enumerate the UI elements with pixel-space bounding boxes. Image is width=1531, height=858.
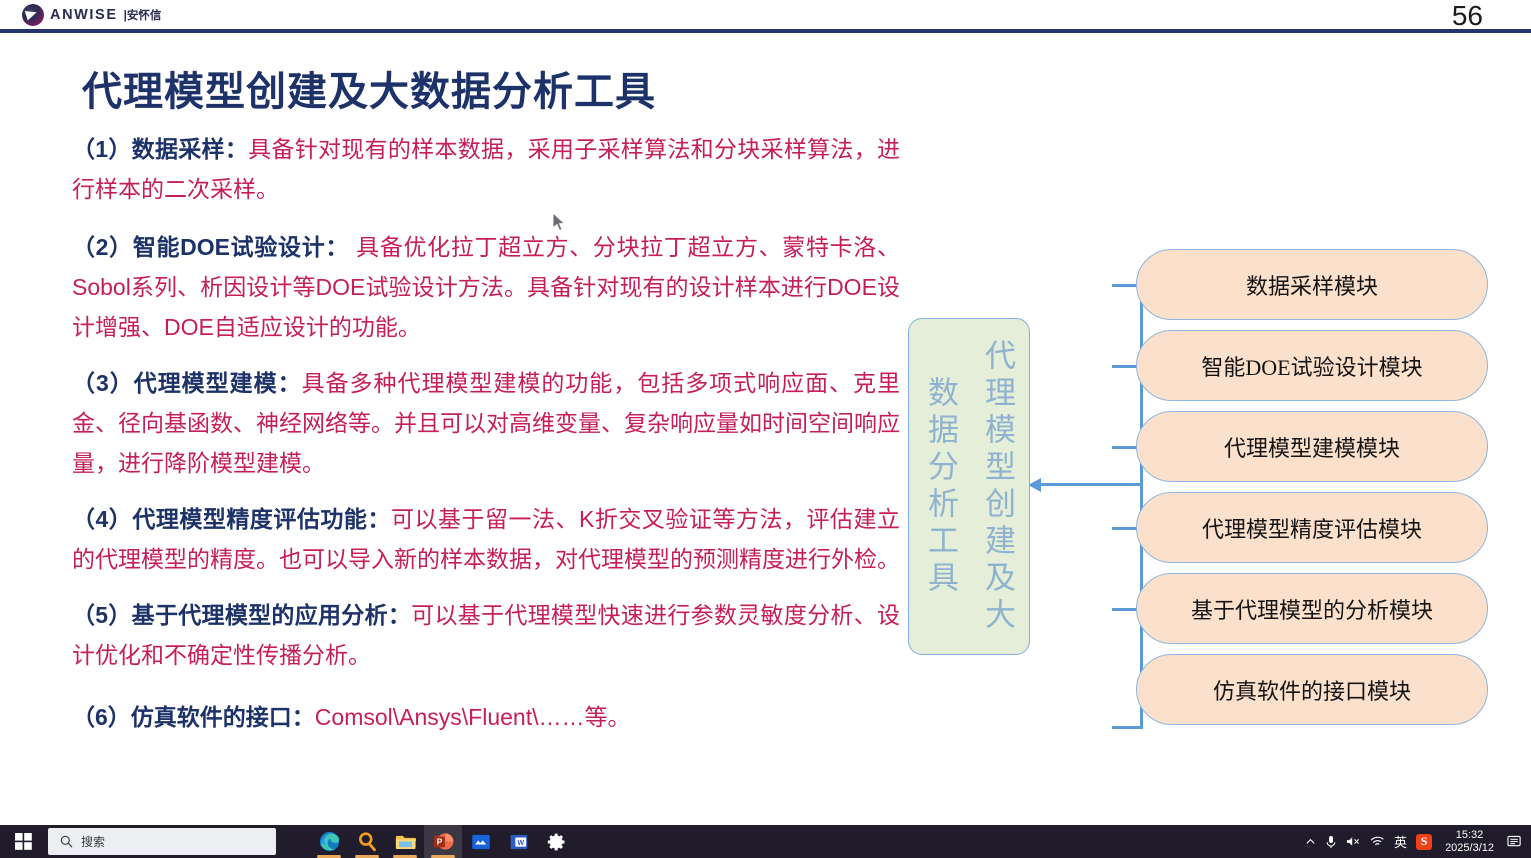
- clock-time: 15:32: [1445, 829, 1494, 842]
- system-tray: 英 S 15:32 2025/3/12: [1305, 825, 1531, 858]
- diagram-leaf-node[interactable]: 代理模型建模模块: [1136, 411, 1488, 482]
- svg-text:P: P: [436, 837, 442, 847]
- bullet-lead: （5）基于代理模型的应用分析：: [72, 602, 411, 628]
- taskbar-app-edge[interactable]: [310, 825, 348, 858]
- diagram-root-label: 代理模型创建及大数据分析工具: [912, 327, 1026, 647]
- taskbar-app-word[interactable]: W: [500, 825, 538, 858]
- bullet-item: （2）智能DOE试验设计： 具备优化拉丁超立方、分块拉丁超立方、蒙特卡洛、Sob…: [72, 227, 900, 347]
- powerpoint-icon: P: [433, 831, 454, 852]
- bullet-item: （4）代理模型精度评估功能：可以基于留一法、K折交叉验证等方法，评估建立的代理模…: [72, 499, 900, 579]
- diagram-leaf-node[interactable]: 基于代理模型的分析模块: [1136, 573, 1488, 644]
- bullet-item: （1）数据采样：具备针对现有的样本数据，采用子采样算法和分块采样算法，进行样本的…: [72, 129, 900, 209]
- taskbar-app-file-explorer[interactable]: [386, 825, 424, 858]
- show-hidden-icons-chevron-icon[interactable]: [1305, 836, 1316, 847]
- ime-language-indicator[interactable]: 英: [1394, 832, 1407, 851]
- bullet-item: （3）代理模型建模：具备多种代理模型建模的功能，包括多项式响应面、克里金、径向基…: [72, 363, 900, 483]
- taskbar-app-search-highlight[interactable]: [348, 825, 386, 858]
- volume-muted-icon[interactable]: [1346, 835, 1361, 848]
- brand-cn-text: 安怀信: [127, 10, 162, 22]
- diagram-leaf-node[interactable]: 数据采样模块: [1136, 249, 1488, 320]
- microphone-icon[interactable]: [1325, 835, 1337, 849]
- diagram-leaf-node[interactable]: 代理模型精度评估模块: [1136, 492, 1488, 563]
- anwise-logo: ANWISE |安怀信: [22, 4, 161, 26]
- bullet-lead: （2）智能DOE试验设计：: [72, 234, 349, 260]
- brand-name-cn: |安怀信: [124, 7, 162, 23]
- edge-icon: [319, 831, 340, 852]
- diagram-arrow-line: [1038, 483, 1142, 486]
- diagram-leaf-node[interactable]: 智能DOE试验设计模块: [1136, 330, 1488, 401]
- diagram-leaf-label: 数据采样模块: [1246, 269, 1378, 301]
- magnifier-icon: [357, 831, 378, 852]
- diagram-root-node[interactable]: 代理模型创建及大数据分析工具: [908, 318, 1030, 655]
- brand-name: ANWISE: [50, 7, 118, 23]
- start-button[interactable]: [0, 825, 46, 858]
- folder-icon: [395, 833, 416, 851]
- windows-logo-icon: [15, 833, 32, 850]
- taskbar-app-settings[interactable]: [538, 825, 576, 858]
- bullet-item: （6）仿真软件的接口：Comsol\Ansys\Fluent\……等。: [72, 697, 900, 737]
- presentation-window: ANWISE |安怀信 56 代理模型创建及大数据分析工具 （1）数据采样：具备…: [0, 0, 1531, 858]
- diagram-leaf-label: 基于代理模型的分析模块: [1191, 593, 1433, 625]
- diagram-leaf-node[interactable]: 仿真软件的接口模块: [1136, 654, 1488, 725]
- page-number: 56: [1452, 0, 1483, 32]
- clock-date: 2025/3/12: [1445, 842, 1494, 855]
- taskbar-search-box[interactable]: 搜索: [48, 828, 276, 855]
- bullet-lead: （1）数据采样：: [72, 136, 248, 162]
- diagram-corner: [1136, 726, 1139, 729]
- bullet-lead: （6）仿真软件的接口：: [72, 704, 315, 730]
- bullet-lead: （3）代理模型建模：: [72, 370, 302, 396]
- slide-title: 代理模型创建及大数据分析工具: [82, 59, 656, 117]
- slide-header: ANWISE |安怀信 56: [0, 0, 1531, 30]
- diagram-leaf-label: 代理模型精度评估模块: [1202, 512, 1422, 544]
- taskbar-app-list: P W: [310, 825, 576, 858]
- diagram-leaf-label: 代理模型建模模块: [1224, 431, 1400, 463]
- svg-text:W: W: [517, 839, 524, 846]
- diagram-leaf-label: 仿真软件的接口模块: [1213, 674, 1411, 706]
- anwise-logo-mark-icon: [22, 4, 44, 26]
- bullet-item: （5）基于代理模型的应用分析：可以基于代理模型快速进行参数灵敏度分析、设计优化和…: [72, 595, 900, 675]
- sogou-ime-icon[interactable]: S: [1416, 834, 1432, 850]
- taskbar-app-blue[interactable]: [462, 825, 500, 858]
- search-placeholder: 搜索: [81, 833, 105, 850]
- notification-center-icon[interactable]: [1507, 835, 1523, 849]
- bullet-body: Comsol\Ansys\Fluent\……等。: [315, 704, 631, 730]
- app-blue-icon: [471, 832, 491, 852]
- bullet-lead: （4）代理模型精度评估功能：: [72, 506, 391, 532]
- word-icon: W: [509, 832, 529, 852]
- bullet-list: （1）数据采样：具备针对现有的样本数据，采用子采样算法和分块采样算法，进行样本的…: [72, 129, 900, 753]
- wifi-icon[interactable]: [1370, 835, 1385, 848]
- windows-taskbar: 搜索: [0, 825, 1531, 858]
- taskbar-app-powerpoint[interactable]: P: [424, 825, 462, 858]
- gear-icon: [547, 832, 567, 852]
- clock[interactable]: 15:32 2025/3/12: [1445, 829, 1494, 855]
- slide-body: 代理模型创建及大数据分析工具 （1）数据采样：具备针对现有的样本数据，采用子采样…: [0, 33, 1531, 808]
- diagram-leaf-label: 智能DOE试验设计模块: [1201, 350, 1422, 382]
- search-icon: [60, 835, 73, 848]
- module-diagram: 代理模型创建及大数据分析工具 数据采样模块 智能DOE试验设计模块 代理模型建模…: [900, 213, 1520, 733]
